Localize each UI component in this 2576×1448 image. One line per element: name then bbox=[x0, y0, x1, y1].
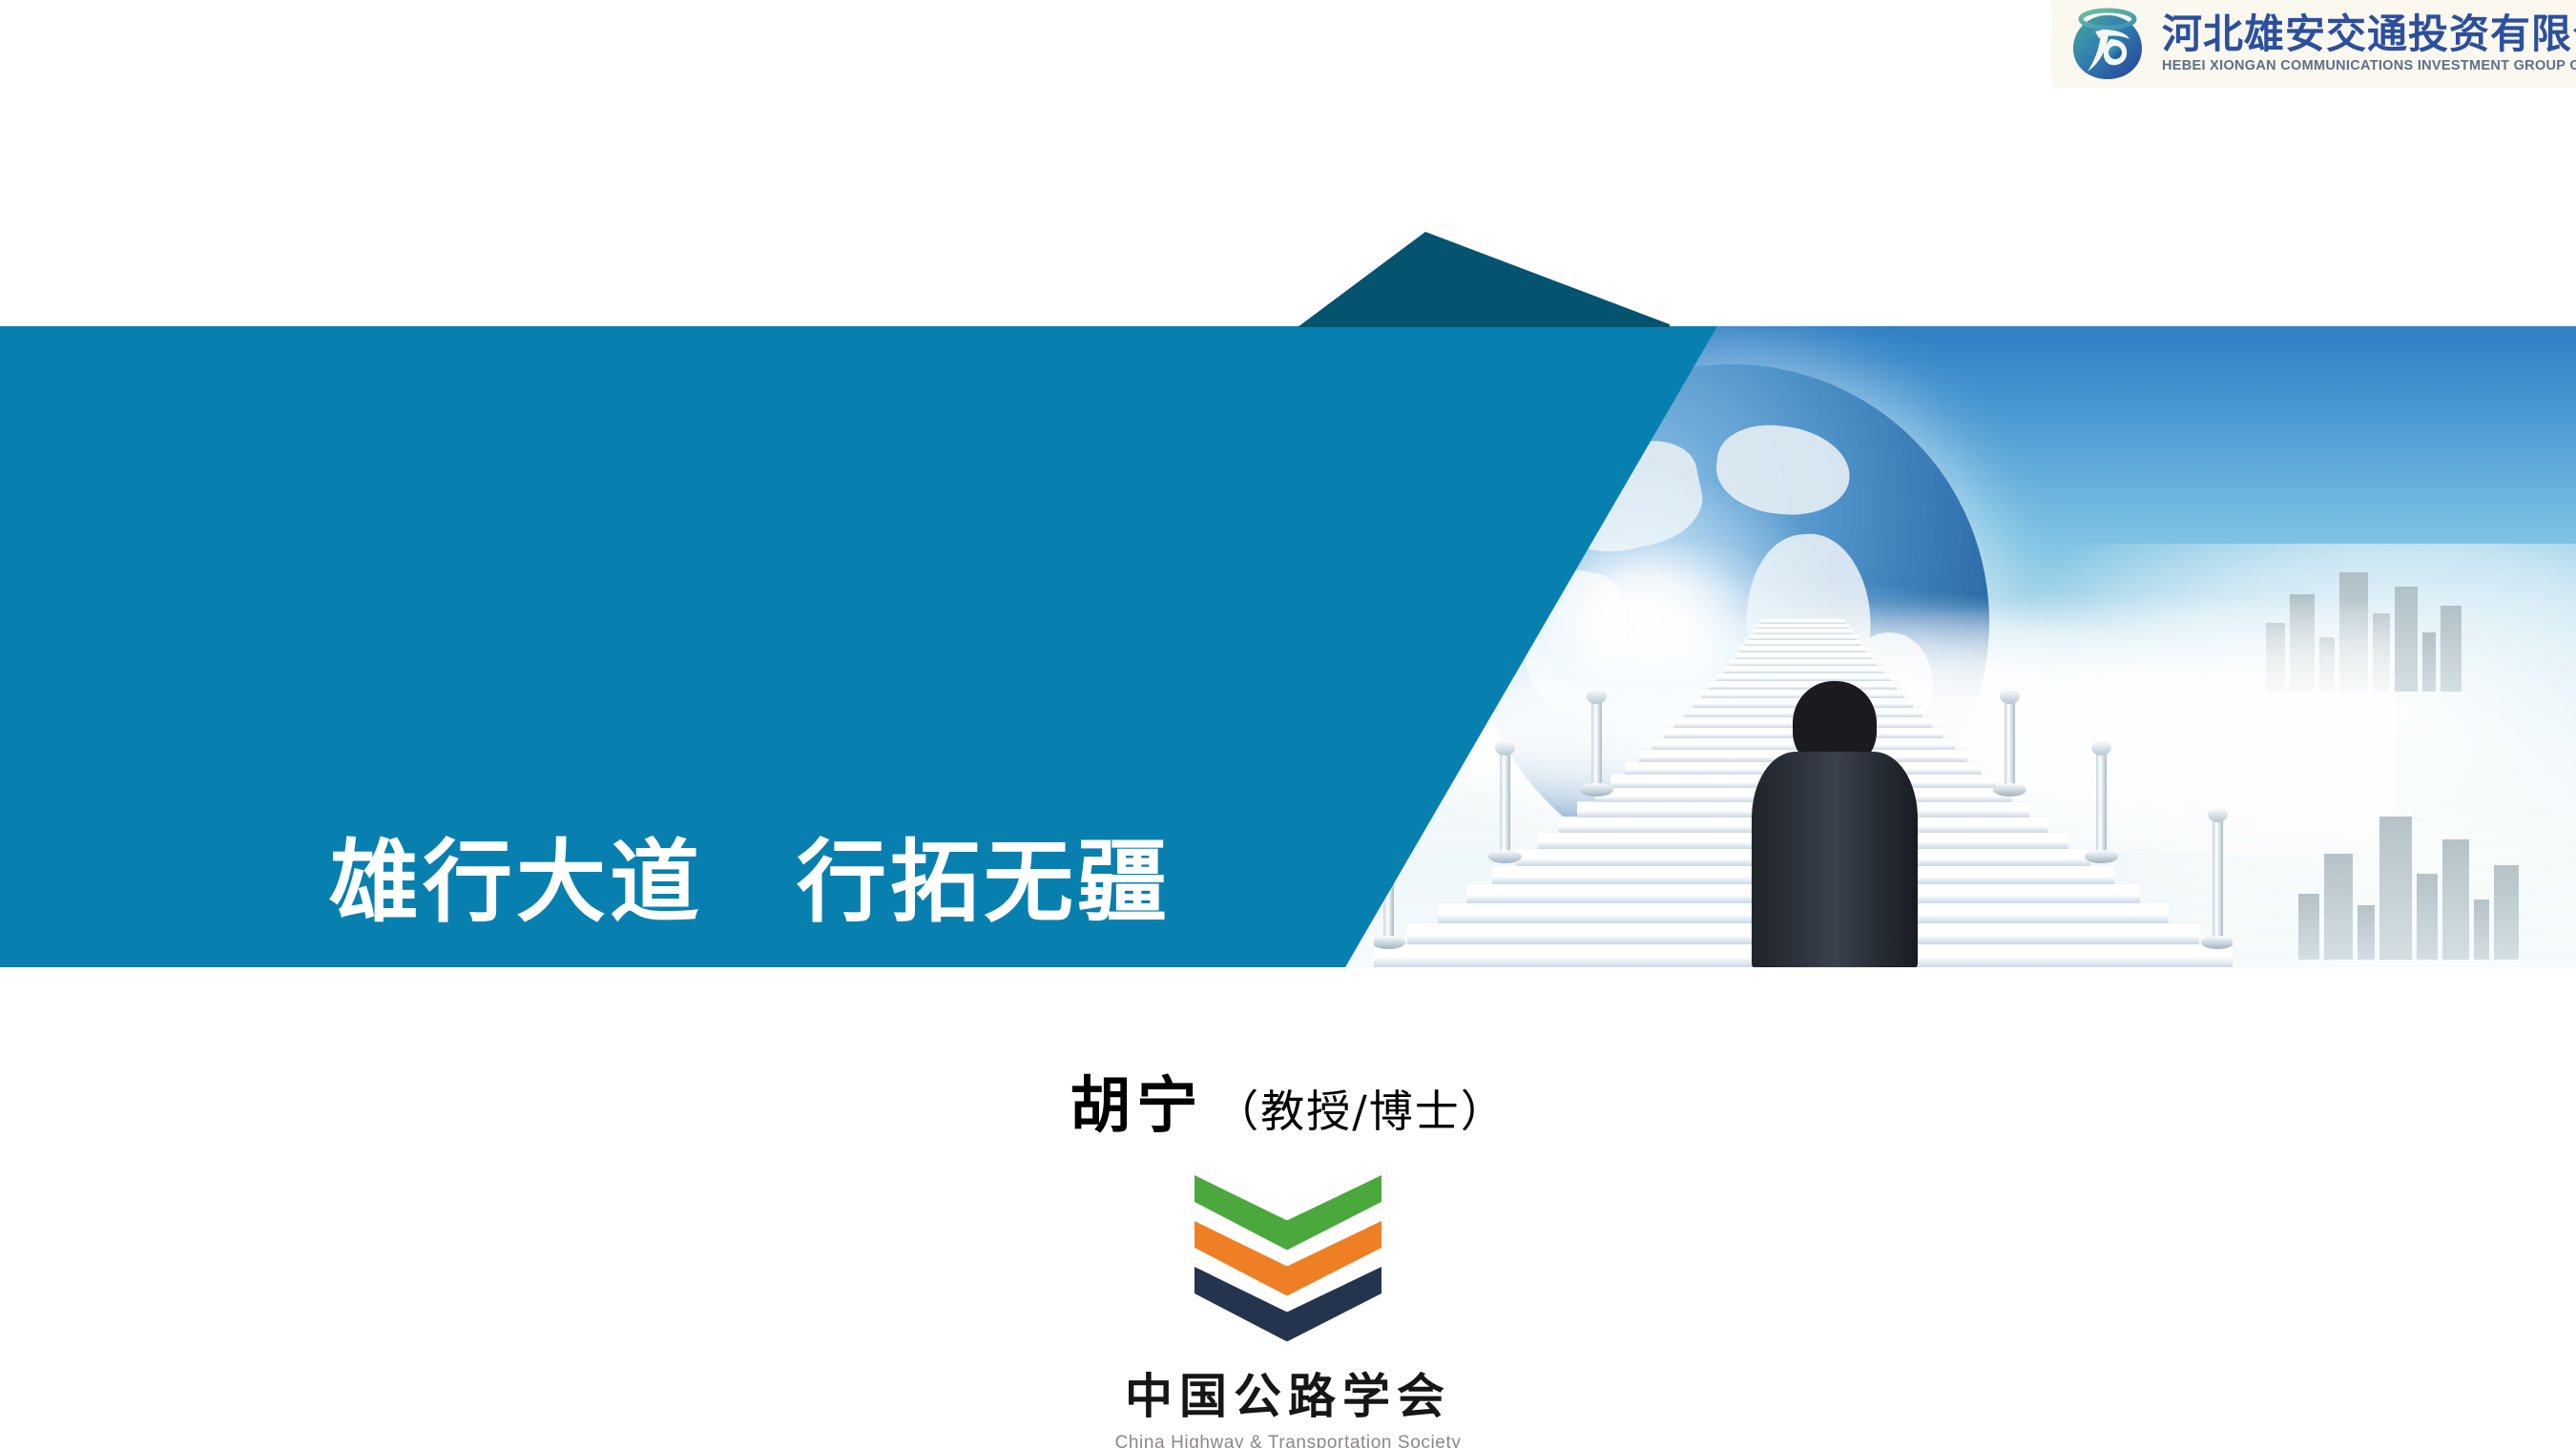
businessman-silhouette bbox=[1744, 681, 1925, 967]
presenter-line: 胡宁（教授/博士） bbox=[0, 1057, 2576, 1145]
presenter-credentials: （教授/博士） bbox=[1215, 1086, 1506, 1137]
society-logo: 中国公路学会 China Highway & Transportation So… bbox=[0, 1175, 2576, 1448]
man-body bbox=[1752, 752, 1918, 967]
hero-accent-flag bbox=[1298, 232, 1670, 327]
hero-band: 雄行大道 行拓无疆 ——雄安交投企业文化品牌解读与落地实施 bbox=[0, 326, 2576, 967]
presenter-name: 胡宁 bbox=[1070, 1070, 1203, 1142]
presentation-slide: 河北雄安交通投资有限公司 HEBEI XIONGAN COMMUNICATION… bbox=[0, 0, 2576, 1448]
corporate-logo: 河北雄安交通投资有限公司 HEBEI XIONGAN COMMUNICATION… bbox=[2051, 0, 2576, 88]
society-name-cn: 中国公路学会 bbox=[1125, 1358, 1451, 1427]
china-highway-society-chevron-icon bbox=[1195, 1175, 1381, 1349]
corporate-logo-text: 河北雄安交通投资有限公司 HEBEI XIONGAN COMMUNICATION… bbox=[2162, 14, 2576, 73]
corporate-name-en: HEBEI XIONGAN COMMUNICATIONS INVESTMENT … bbox=[2162, 59, 2576, 73]
corporate-name-cn: 河北雄安交通投资有限公司 bbox=[2162, 14, 2576, 54]
hebei-xiongan-emblem-icon bbox=[2067, 7, 2149, 81]
society-name-en: China Highway & Transportation Society bbox=[1115, 1433, 1462, 1448]
skyline-right-lower bbox=[2298, 817, 2519, 960]
slide-title: 雄行大道 行拓无疆 bbox=[329, 837, 1171, 931]
